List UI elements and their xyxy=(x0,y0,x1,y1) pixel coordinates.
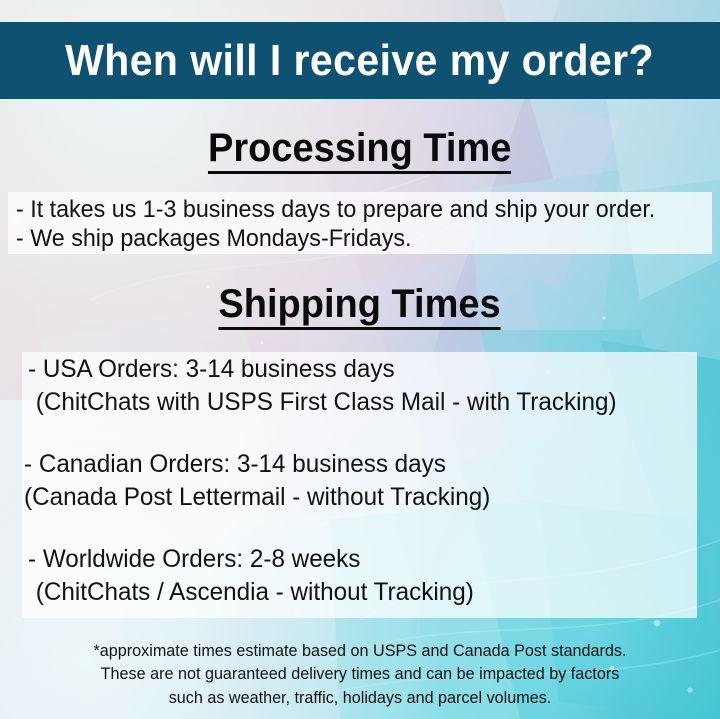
shipping-entry-usa-primary: - USA Orders: 3-14 business days xyxy=(28,353,617,386)
shipping-entry-usa-detail: (ChitChats with USPS First Class Mail - … xyxy=(28,386,617,419)
processing-time-line-1: - It takes us 1-3 business days to prepa… xyxy=(16,196,655,224)
footnote-disclaimer: *approximate times estimate based on USP… xyxy=(0,640,720,710)
processing-time-line-2: - We ship packages Mondays-Fridays. xyxy=(16,225,411,253)
shipping-entry-usa: - USA Orders: 3-14 business days (ChitCh… xyxy=(28,353,635,419)
page-title: When will I receive my order? xyxy=(66,39,655,83)
shipping-entry-worldwide-detail: (ChitChats / Ascendia - without Tracking… xyxy=(28,576,474,609)
shipping-entry-worldwide: - Worldwide Orders: 2-8 weeks (ChitChats… xyxy=(28,543,488,609)
shipping-entry-canada: - Canadian Orders: 3-14 business days (C… xyxy=(24,448,505,514)
section-heading-shipping-times-label: Shipping Times xyxy=(219,284,501,330)
shipping-entry-worldwide-primary: - Worldwide Orders: 2-8 weeks xyxy=(28,543,474,576)
section-heading-shipping-times: Shipping Times xyxy=(0,284,720,330)
shipping-faq-poster: When will I receive my order? Processing… xyxy=(0,0,720,719)
shipping-entry-canada-primary: - Canadian Orders: 3-14 business days xyxy=(24,448,490,481)
section-heading-processing-time-label: Processing Time xyxy=(208,128,511,174)
section-heading-processing-time: Processing Time xyxy=(0,128,720,174)
shipping-entry-canada-detail: (Canada Post Lettermail - without Tracki… xyxy=(24,481,490,514)
footnote-line-1: *approximate times estimate based on USP… xyxy=(7,640,713,663)
footnote-line-3: such as weather, traffic, holidays and p… xyxy=(7,687,713,710)
header-banner: When will I receive my order? xyxy=(0,22,720,99)
footnote-line-2: These are not guaranteed delivery times … xyxy=(7,663,713,686)
